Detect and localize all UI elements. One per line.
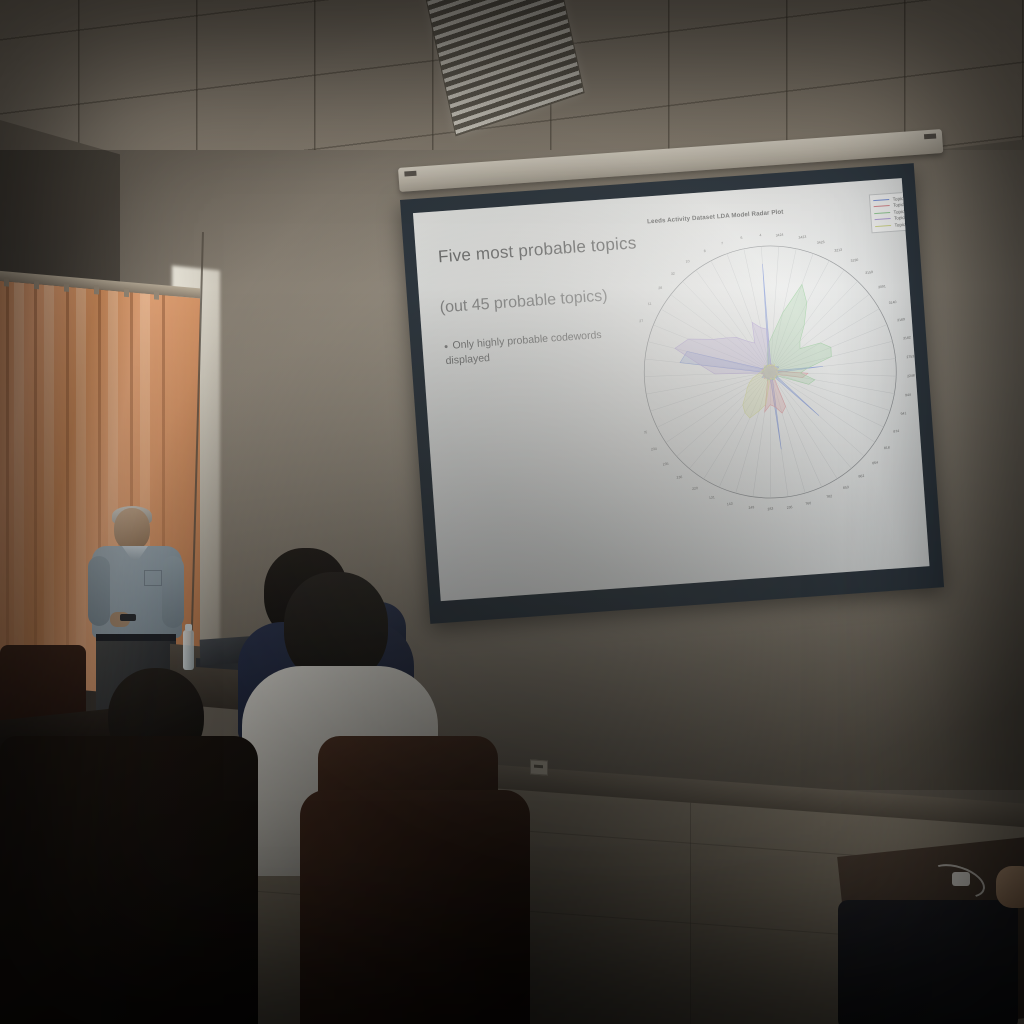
water-bottle bbox=[183, 630, 194, 670]
radar-tick-label: 6 bbox=[740, 236, 743, 240]
radar-tick-label: 874 bbox=[893, 429, 899, 434]
radar-tick-label: 32 bbox=[631, 394, 635, 399]
radar-tick-label: 2248 bbox=[907, 373, 915, 378]
radar-tick-label: 235 bbox=[662, 462, 668, 467]
radar-tick-label: 7 bbox=[721, 241, 724, 245]
radar-tick-label: 10 bbox=[685, 259, 689, 264]
radar-tick-label: 205 bbox=[641, 430, 647, 435]
presenter-head bbox=[114, 508, 150, 550]
radar-tick-label: 862 bbox=[858, 474, 864, 479]
radar-tick-label: 760 bbox=[805, 501, 811, 506]
radar-tick-label: 249 bbox=[748, 505, 754, 510]
projector-screen: Five most probable topics (out 45 probab… bbox=[400, 163, 944, 624]
radar-tick-label: 3182 bbox=[903, 335, 911, 340]
radar-tick-label: 27 bbox=[639, 319, 643, 324]
radar-tick-label: 220 bbox=[692, 486, 698, 491]
presenter-belt bbox=[96, 634, 176, 641]
radar-tick-label: 3213 bbox=[834, 248, 842, 253]
bullet-dot bbox=[444, 345, 447, 348]
radar-tick-label: 3190 bbox=[850, 258, 858, 263]
radar-tick-label: 3423 bbox=[817, 240, 825, 245]
slide-title: Five most probable topics bbox=[437, 233, 637, 267]
radar-tick-label: 8 bbox=[704, 249, 707, 253]
chair-foreground-right[interactable] bbox=[300, 790, 530, 1024]
power-adapter bbox=[952, 872, 970, 886]
radar-tick-label: 41 bbox=[636, 412, 640, 417]
presentation-photo: Five most probable topics (out 45 probab… bbox=[0, 0, 1024, 1024]
radar-tick-label: 236 bbox=[676, 475, 682, 480]
laptop-bag bbox=[838, 900, 1018, 1024]
radar-tick-label: 941 bbox=[900, 411, 906, 416]
presenter-right-arm bbox=[162, 556, 184, 628]
radar-tick-label: 40 bbox=[630, 375, 634, 380]
presenter-left-arm bbox=[88, 556, 110, 626]
radar-tick-label: 3140 bbox=[888, 300, 896, 305]
radar-tick-label: 782 bbox=[826, 494, 832, 499]
radar-tick-label: 131 bbox=[709, 495, 715, 500]
slide-bullet: Only highly probable codewords displayed bbox=[444, 326, 636, 370]
legend-swatch bbox=[874, 199, 890, 202]
radar-tick-label: 944 bbox=[905, 393, 911, 398]
radar-tick-label: 32 bbox=[671, 272, 675, 277]
slide-subtitle: (out 45 probable topics) bbox=[439, 287, 608, 317]
radar-tick-label: 3159 bbox=[865, 270, 873, 275]
legend-swatch bbox=[874, 205, 890, 208]
wall-socket[interactable] bbox=[530, 759, 548, 775]
radar-tick-label: 143 bbox=[727, 502, 733, 507]
radar-chart: Leeds Activity Dataset LDA Model Radar P… bbox=[628, 189, 929, 558]
radar-tick-label: 818 bbox=[884, 445, 890, 450]
legend-label: Topic 2 bbox=[893, 202, 908, 208]
radar-tick-label: 2753 bbox=[906, 354, 914, 359]
radar-series bbox=[669, 259, 838, 456]
radar-tick-label: 3091 bbox=[878, 284, 886, 289]
presentation-clicker[interactable] bbox=[120, 614, 136, 621]
radar-tick-label: 236 bbox=[786, 505, 792, 510]
radar-tick-label: 28 bbox=[658, 286, 662, 291]
radar-tick-label: 3189 bbox=[897, 317, 905, 322]
radar-tick-label: 3423 bbox=[798, 235, 806, 240]
radar-tick-label: 70 bbox=[630, 356, 634, 361]
legend-label: Topic 1 bbox=[892, 195, 907, 201]
radar-tick-label: 3424 bbox=[775, 233, 783, 238]
chair-foreground-left[interactable] bbox=[0, 736, 258, 1024]
slide-bullet-text: Only highly probable codewords displayed bbox=[445, 329, 602, 367]
radar-tick-label: 11 bbox=[648, 302, 652, 306]
projected-slide: Five most probable topics (out 45 probab… bbox=[413, 178, 930, 601]
radar-tick-label: 234 bbox=[651, 447, 657, 452]
radar-tick-label: 4 bbox=[759, 233, 762, 237]
attendee-hand bbox=[996, 866, 1024, 908]
radar-tick-label: 283 bbox=[767, 507, 773, 512]
presenter-pocket bbox=[144, 570, 162, 586]
radar-svg: 4342434233423321331903159309131403189318… bbox=[630, 211, 930, 557]
radar-tick-label: 853 bbox=[843, 485, 849, 490]
radar-tick-label: 864 bbox=[872, 461, 878, 466]
